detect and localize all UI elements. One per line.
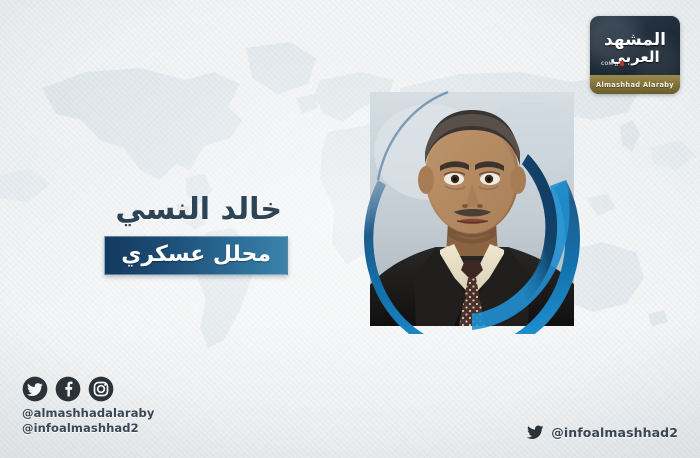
guest-role-label: محلل عسكري bbox=[121, 242, 271, 267]
social-handle-2[interactable]: @infoalmashhad2 bbox=[22, 421, 154, 436]
logo-arabic-text: المشهد العربي bbox=[590, 32, 680, 65]
social-block: @almashhadalaraby @infoalmashhad2 bbox=[22, 376, 154, 436]
logo-red-dot-icon bbox=[620, 61, 624, 66]
social-handles: @almashhadalaraby @infoalmashhad2 bbox=[22, 406, 154, 436]
broadcast-lower-third-card: المشهد العربي COM Almashhad Alaraby bbox=[0, 0, 700, 458]
portrait-ring-icon bbox=[352, 84, 592, 334]
logo-latin-text: Almashhad Alaraby bbox=[596, 81, 674, 89]
instagram-icon[interactable] bbox=[88, 376, 114, 402]
guest-name: خالد النسي bbox=[115, 192, 282, 227]
facebook-icon[interactable] bbox=[55, 376, 81, 402]
twitter-icon bbox=[526, 423, 545, 442]
footer-social-handle[interactable]: @infoalmashhad2 bbox=[526, 423, 678, 442]
logo-domain-text: COM bbox=[601, 62, 613, 67]
social-icons-row bbox=[22, 376, 154, 402]
guest-role-badge: محلل عسكري bbox=[104, 236, 288, 275]
logo-arabic-line-1: المشهد bbox=[604, 30, 666, 50]
channel-logo[interactable]: المشهد العربي COM Almashhad Alaraby bbox=[590, 16, 680, 94]
social-handle-1[interactable]: @almashhadalaraby bbox=[22, 406, 154, 421]
twitter-icon[interactable] bbox=[22, 376, 48, 402]
logo-latin-bar: Almashhad Alaraby bbox=[590, 75, 680, 94]
footer-handle-text: @infoalmashhad2 bbox=[551, 425, 678, 440]
guest-portrait bbox=[352, 84, 592, 334]
